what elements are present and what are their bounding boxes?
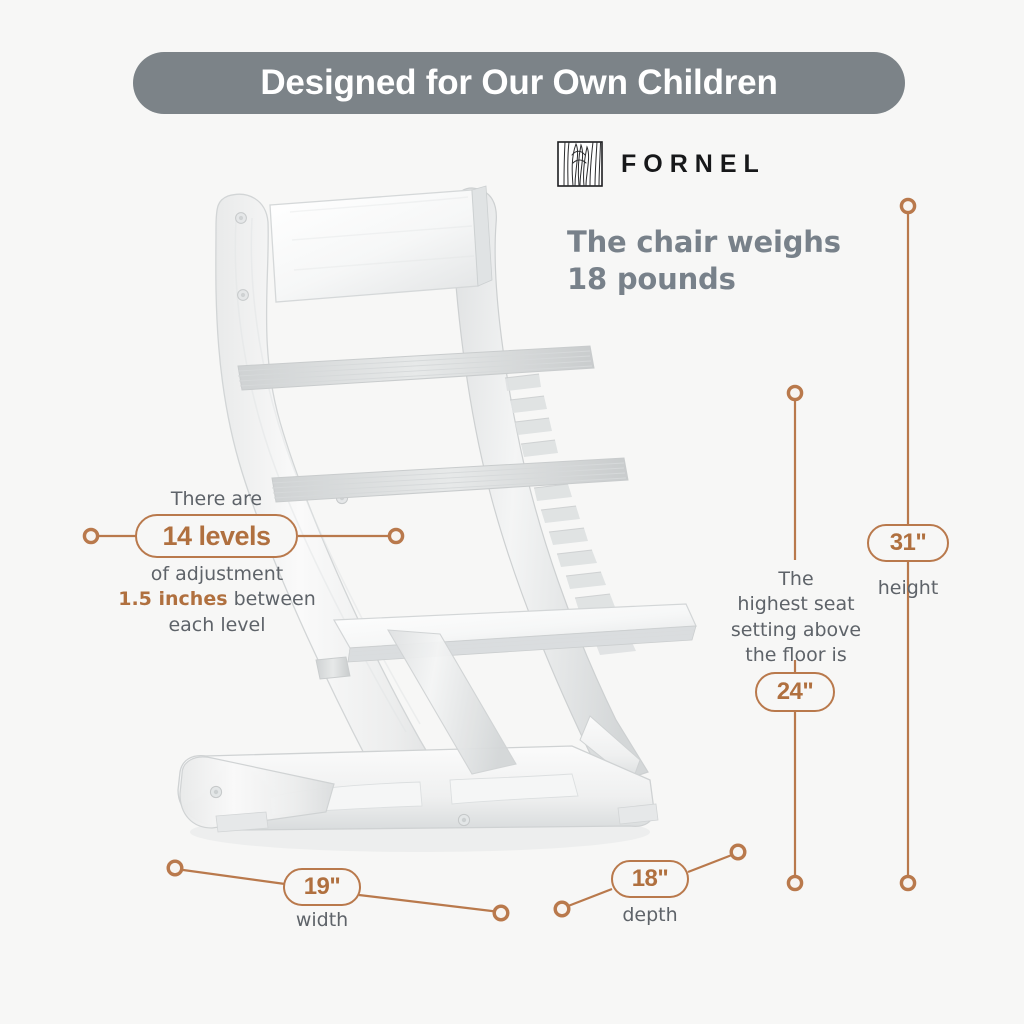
endpoint-dot-seat-top	[788, 386, 801, 399]
seat-height-line2: highest seat	[737, 593, 854, 615]
endpoint-dot-depth-right	[731, 845, 745, 859]
seat-height-value: 24"	[777, 678, 814, 706]
depth-value: 18"	[632, 865, 669, 893]
width-label: width	[283, 908, 361, 933]
dimension-line-depth-right	[688, 853, 737, 872]
width-value-pill: 19"	[283, 868, 361, 906]
dimension-line-depth-left	[563, 889, 612, 908]
height-value: 31"	[890, 529, 927, 557]
width-value: 19"	[304, 873, 341, 901]
seat-height-line1: The	[778, 568, 813, 590]
endpoint-dot-levels-left	[84, 529, 97, 542]
levels-caption-line1: of adjustment	[151, 563, 283, 585]
seat-height-line4: the floor is	[745, 644, 846, 666]
endpoint-dot-height-top	[901, 199, 914, 212]
levels-caption-line2: between	[234, 588, 316, 610]
levels-spacing-value: 1.5 inches	[118, 588, 227, 610]
endpoint-dot-seat-bottom	[788, 876, 801, 889]
endpoint-dot-depth-left	[555, 902, 569, 916]
levels-caption-above: There are	[114, 487, 319, 512]
dimension-line-width-right	[359, 895, 500, 912]
dimension-line-width-left	[176, 869, 285, 884]
seat-height-line3: setting above	[731, 619, 861, 641]
levels-value-pill: 14 levels	[135, 514, 298, 558]
levels-value: 14 levels	[162, 521, 270, 552]
endpoint-dot-width-left	[168, 861, 182, 875]
endpoint-dot-height-bottom	[901, 876, 914, 889]
levels-caption-line3: each level	[168, 614, 265, 636]
endpoint-dot-width-right	[494, 906, 508, 920]
seat-height-caption: The highest seat setting above the floor…	[716, 567, 876, 669]
seat-height-value-pill: 24"	[755, 672, 835, 712]
infographic-canvas: Designed for Our Own Children	[0, 0, 1024, 1024]
depth-label: depth	[611, 903, 689, 928]
depth-value-pill: 18"	[611, 860, 689, 898]
height-value-pill: 31"	[867, 524, 949, 562]
levels-caption-below: of adjustment 1.5 inches between each le…	[108, 562, 326, 638]
endpoint-dot-levels-right	[389, 529, 402, 542]
